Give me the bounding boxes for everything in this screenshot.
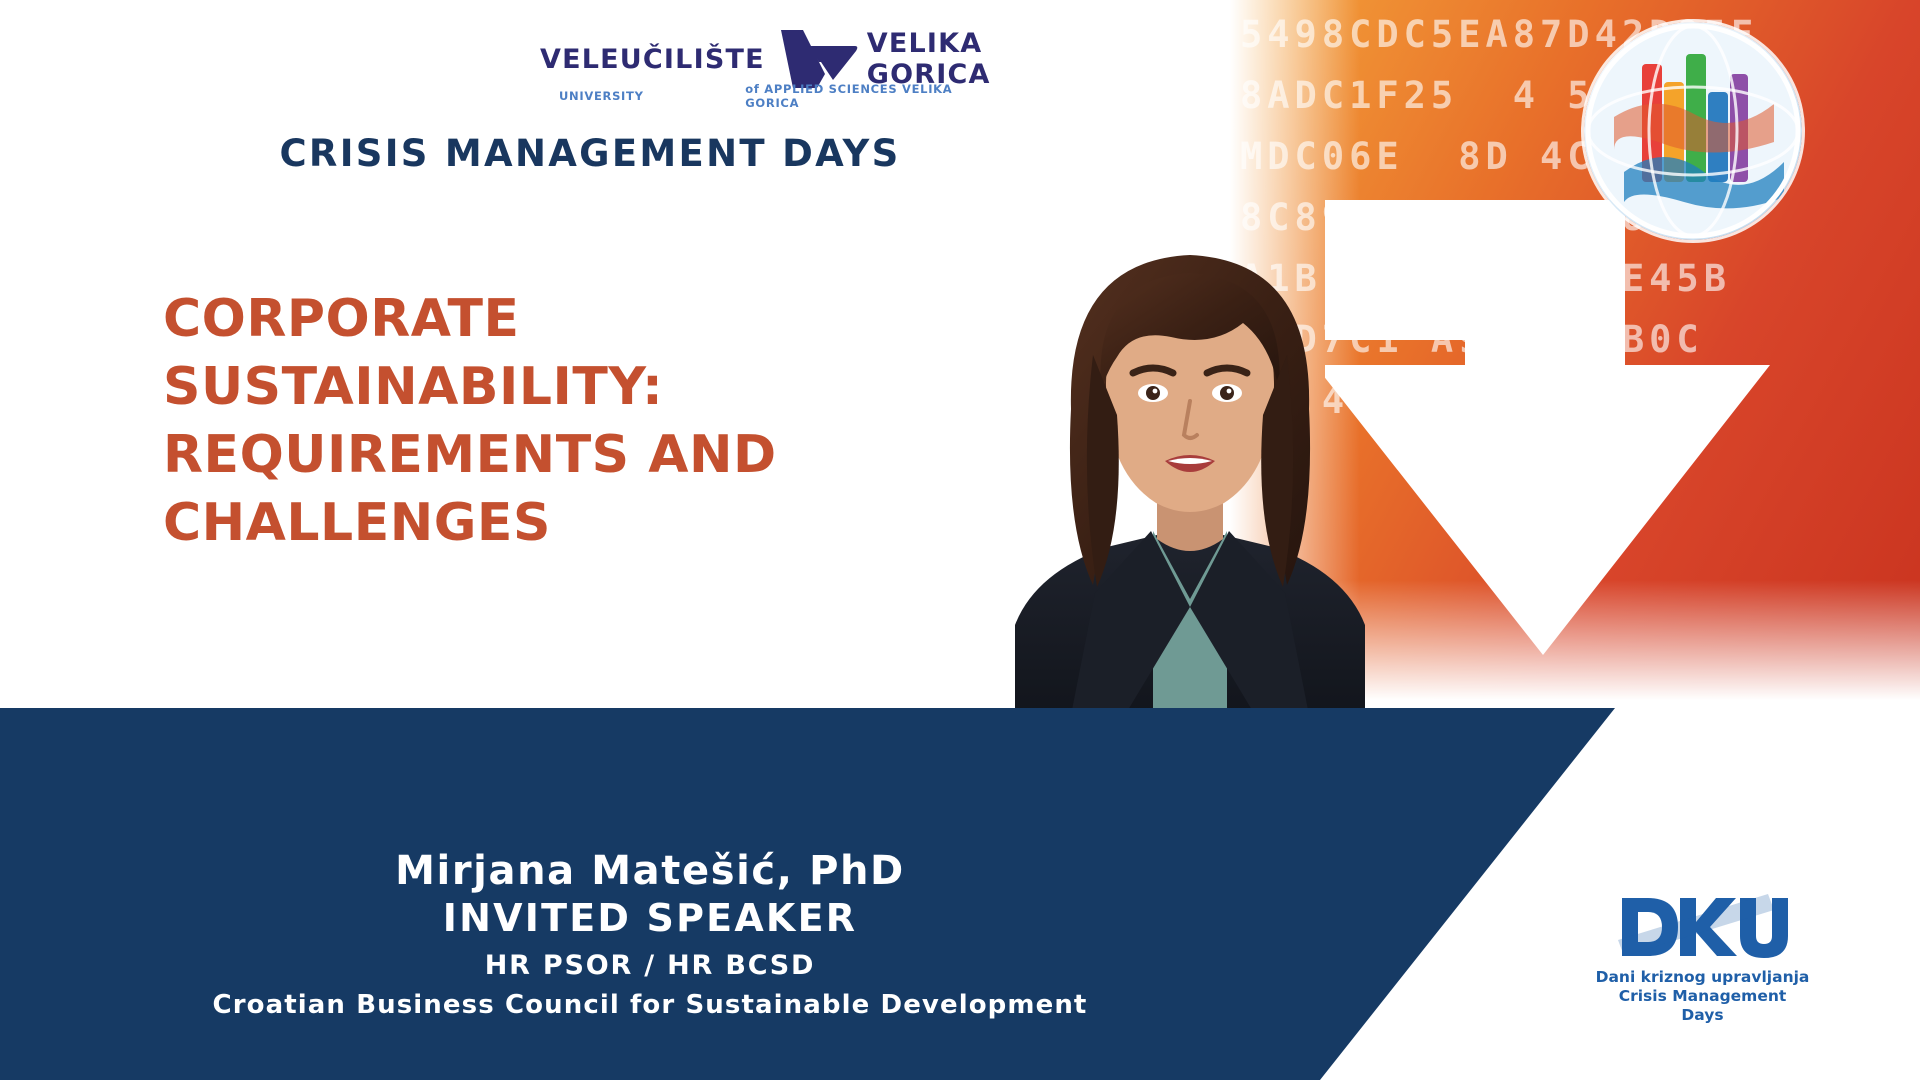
logo-word-veleuciliste: VELEUČILIŠTE xyxy=(540,44,765,75)
dku-line-hr: Dani kriznog upravljanja xyxy=(1595,968,1810,987)
logo-sub-applied-sciences: of APPLIED SCIENCES VELIKA GORICA xyxy=(745,82,1010,110)
speaker-info: Mirjana Matešić, PhD INVITED SPEAKER HR … xyxy=(0,848,1300,1020)
logo-word-velika-gorica: VELIKA GORICA xyxy=(867,28,1010,90)
event-heading: CRISIS MANAGEMENT DAYS xyxy=(0,132,1180,175)
dku-line-en: Crisis Management Days xyxy=(1595,987,1810,1025)
presentation-slide: 5498CDC5EA87D42D85E 8ADC1F25 4 5BADA4 MD… xyxy=(0,0,1920,1080)
speaker-organization: HR PSOR / HR BCSD xyxy=(0,950,1300,981)
speaker-portrait xyxy=(975,195,1405,715)
colorful-globe-icon xyxy=(1584,22,1802,240)
dku-logo: Dani kriznog upravljanja Crisis Manageme… xyxy=(1595,890,1810,1025)
speaker-organization-full: Croatian Business Council for Sustainabl… xyxy=(0,990,1300,1020)
university-logo: VELEUČILIŠTE VELIKA GORICA UNIVERSITY of… xyxy=(540,28,1010,98)
speaker-name: Mirjana Matešić, PhD xyxy=(0,848,1300,894)
logo-sub-university: UNIVERSITY xyxy=(540,89,644,103)
vvg-checkmark-logo xyxy=(773,28,859,90)
presentation-title: Corporate Sustainability: Requirements a… xyxy=(163,285,803,557)
dku-mark-icon xyxy=(1618,890,1788,964)
speaker-role: INVITED SPEAKER xyxy=(0,896,1300,940)
